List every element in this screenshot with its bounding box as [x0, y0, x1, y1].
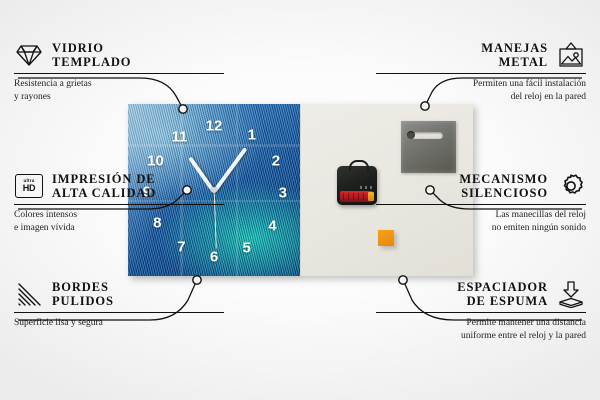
clock-numeral: 11: [172, 129, 188, 144]
clock-numeral: 5: [243, 241, 251, 256]
feature-description: Resistencia a grietas y rayones: [14, 78, 224, 102]
feature-metal-handles: MANEJAS METAL Permiten una fácil instala…: [376, 40, 586, 103]
feature-foam-spacer: ESPACIADOR DE ESPUMA Permite mantener un…: [376, 279, 586, 342]
battery-terminal: [368, 192, 374, 201]
feature-description: Colores intensos e imagen vívida: [14, 209, 224, 233]
feature-tempered-glass: VIDRIO TEMPLADO Resistencia a grietas y …: [14, 40, 224, 103]
feature-divider: [376, 312, 586, 313]
feature-description: Permiten una fácil instalación del reloj…: [376, 78, 586, 102]
feature-title: VIDRIO TEMPLADO: [52, 41, 131, 69]
clock-numeral: 1: [248, 127, 256, 142]
battery-label-stripes: [343, 193, 366, 200]
feature-divider: [14, 73, 224, 74]
gear-icon: [556, 171, 586, 201]
clock-numeral: 7: [177, 239, 185, 254]
clock-mechanism-box: [337, 166, 377, 205]
feature-title: ESPACIADOR DE ESPUMA: [457, 280, 548, 308]
feature-divider: [376, 204, 586, 205]
diamond-icon: [14, 40, 44, 70]
ultra-hd-icon-bottom-text: HD: [23, 184, 36, 193]
mechanism-hanging-loop: [349, 160, 369, 171]
feature-description: Permite mantener una distancia uniforme …: [376, 317, 586, 341]
ultra-hd-icon: ultra HD: [14, 171, 44, 201]
metal-hanger-plate: [401, 121, 456, 173]
picture-frame-icon: [556, 40, 586, 70]
clock-numeral: 4: [268, 219, 276, 234]
feature-title: BORDES PULIDOS: [52, 280, 114, 308]
feature-divider: [14, 204, 224, 205]
clock-numeral: 2: [272, 153, 280, 168]
feature-description: Las manecillas del reloj no emiten ningú…: [376, 209, 586, 233]
feature-title: IMPRESIÓN DE ALTA CALIDAD: [52, 172, 156, 200]
clock-numeral: 6: [210, 250, 218, 265]
feature-description: Superficie lisa y segura: [14, 317, 224, 329]
polished-edge-icon: [14, 279, 44, 309]
clock-numeral: 10: [147, 153, 164, 168]
feature-divider: [376, 73, 586, 74]
feature-hd-print: ultra HD IMPRESIÓN DE ALTA CALIDAD Color…: [14, 171, 224, 234]
hanger-slot: [411, 132, 443, 139]
feature-title: MANEJAS METAL: [481, 41, 548, 69]
down-arrow-layers-icon: [556, 279, 586, 309]
battery: [340, 191, 374, 202]
mechanism-detail: [360, 186, 372, 189]
clock-numeral: 3: [279, 186, 287, 201]
feature-divider: [14, 312, 224, 313]
feature-title: MECANISMO SILENCIOSO: [459, 172, 548, 200]
clock-numeral: 12: [206, 119, 223, 134]
feature-silent-mechanism: MECANISMO SILENCIOSO Las manecillas del …: [376, 171, 586, 234]
feature-polished-edges: BORDES PULIDOS Superficie lisa y segura: [14, 279, 224, 330]
infographic-canvas: 12 1 2 3 4 5 6 7 8 9 10 11: [0, 0, 600, 400]
